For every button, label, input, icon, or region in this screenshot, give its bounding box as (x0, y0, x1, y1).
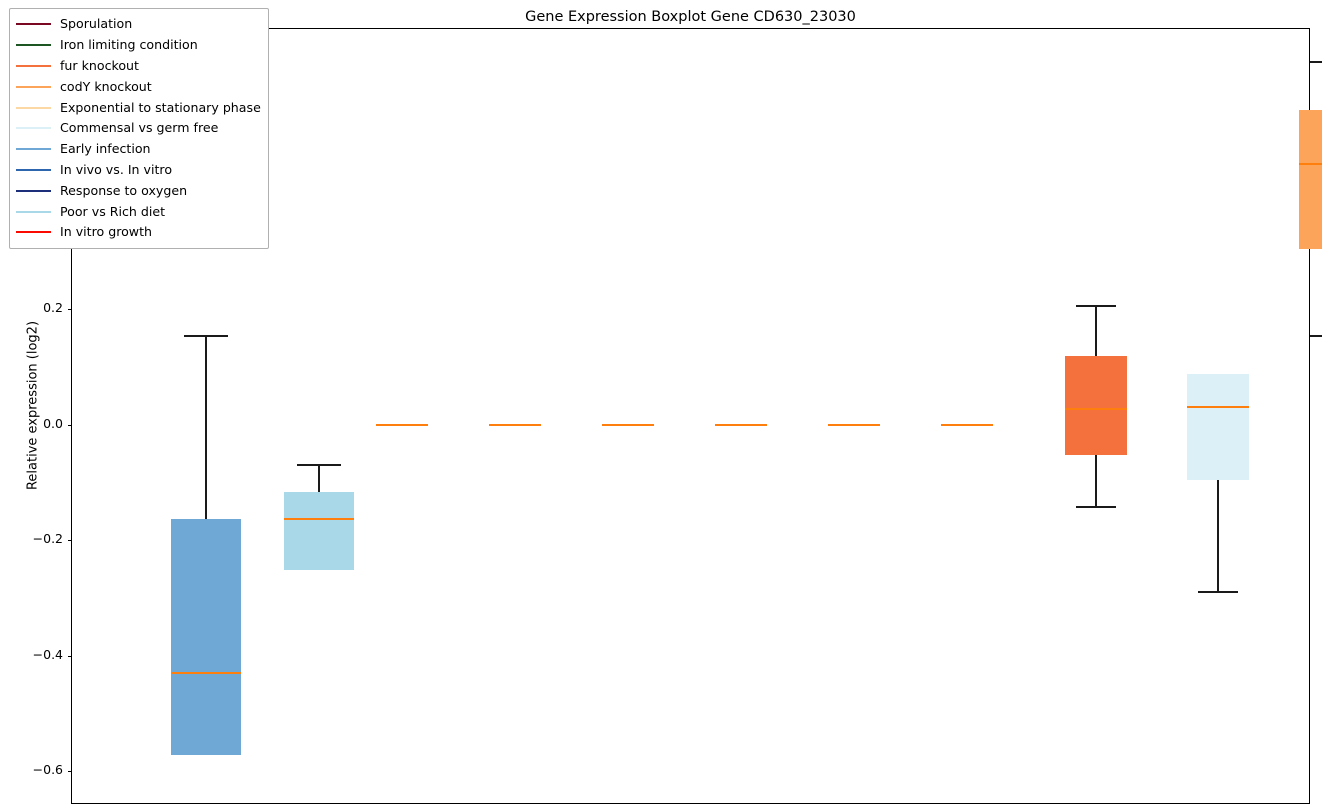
whisker-cap-upper (297, 464, 342, 466)
legend-item-label: fur knockout (60, 59, 139, 73)
y-axis-tick (68, 309, 72, 310)
whisker-lower (1095, 455, 1097, 507)
legend-item[interactable]: Early infection (16, 139, 261, 160)
legend-color-swatch (16, 107, 51, 109)
legend-color-swatch (16, 127, 51, 129)
legend-item[interactable]: Response to oxygen (16, 180, 261, 201)
y-axis-tick (68, 540, 72, 541)
legend-item-label: codY knockout (60, 80, 152, 94)
legend-color-swatch (16, 190, 51, 192)
legend-item[interactable]: Poor vs Rich diet (16, 201, 261, 222)
box-rect (1187, 374, 1249, 479)
legend-color-swatch (16, 86, 51, 88)
legend-color-swatch (16, 169, 51, 171)
median-line (1299, 163, 1322, 165)
y-axis-tick (68, 425, 72, 426)
y-axis-tick-label: 0.0 (3, 418, 63, 430)
legend-item-label: In vitro growth (60, 225, 152, 239)
whisker-cap-upper (1310, 61, 1322, 63)
whisker-upper (1095, 306, 1097, 356)
median-line (828, 424, 880, 426)
y-axis-tick (68, 771, 72, 772)
legend-item-label: Sporulation (60, 17, 132, 31)
legend-item-label: In vivo vs. In vitro (60, 163, 172, 177)
y-axis-tick-label: −0.4 (3, 649, 63, 661)
legend-item[interactable]: Iron limiting condition (16, 35, 261, 56)
median-line (602, 424, 654, 426)
whisker-upper (205, 336, 207, 520)
legend-color-swatch (16, 148, 51, 150)
legend-color-swatch (16, 231, 51, 233)
median-line (376, 424, 428, 426)
legend-color-swatch (16, 211, 51, 213)
legend-item[interactable]: Commensal vs germ free (16, 118, 261, 139)
median-line (1065, 408, 1127, 410)
legend-item[interactable]: Sporulation (16, 14, 261, 35)
median-line (489, 424, 541, 426)
box-rect (171, 519, 241, 755)
whisker-cap-lower (1310, 335, 1322, 337)
y-axis-tick-label: −0.2 (3, 533, 63, 545)
legend-color-swatch (16, 23, 51, 25)
legend-item[interactable]: fur knockout (16, 56, 261, 77)
legend-item-label: Response to oxygen (60, 184, 187, 198)
box-rect (1065, 356, 1127, 455)
y-axis-tick (68, 656, 72, 657)
legend-item-label: Exponential to stationary phase (60, 101, 261, 115)
legend-item-label: Poor vs Rich diet (60, 205, 165, 219)
legend-item[interactable]: In vivo vs. In vitro (16, 160, 261, 181)
whisker-cap-upper (1076, 305, 1116, 307)
legend-item[interactable]: Exponential to stationary phase (16, 97, 261, 118)
box-rect (1299, 110, 1322, 249)
whisker-cap-upper (184, 335, 229, 337)
legend-item-label: Iron limiting condition (60, 38, 198, 52)
median-line (284, 518, 354, 520)
median-line (1187, 406, 1249, 408)
whisker-lower (1217, 480, 1219, 593)
legend-item[interactable]: codY knockout (16, 76, 261, 97)
whisker-cap-lower (1076, 506, 1116, 508)
legend-item-label: Commensal vs germ free (60, 121, 218, 135)
median-line (171, 672, 241, 674)
whisker-cap-lower (1198, 591, 1238, 593)
legend-color-swatch (16, 44, 51, 46)
box-rect (284, 492, 354, 571)
median-line (941, 424, 993, 426)
figure-canvas: Gene Expression Boxplot Gene CD630_23030… (0, 0, 1322, 812)
y-axis-tick-label: −0.6 (3, 764, 63, 776)
chart-legend: SporulationIron limiting conditionfur kn… (9, 8, 269, 249)
whisker-upper (318, 465, 320, 492)
median-line (715, 424, 767, 426)
legend-item-label: Early infection (60, 142, 151, 156)
legend-item[interactable]: In vitro growth (16, 222, 261, 243)
y-axis-tick-label: 0.2 (3, 302, 63, 314)
legend-color-swatch (16, 65, 51, 67)
